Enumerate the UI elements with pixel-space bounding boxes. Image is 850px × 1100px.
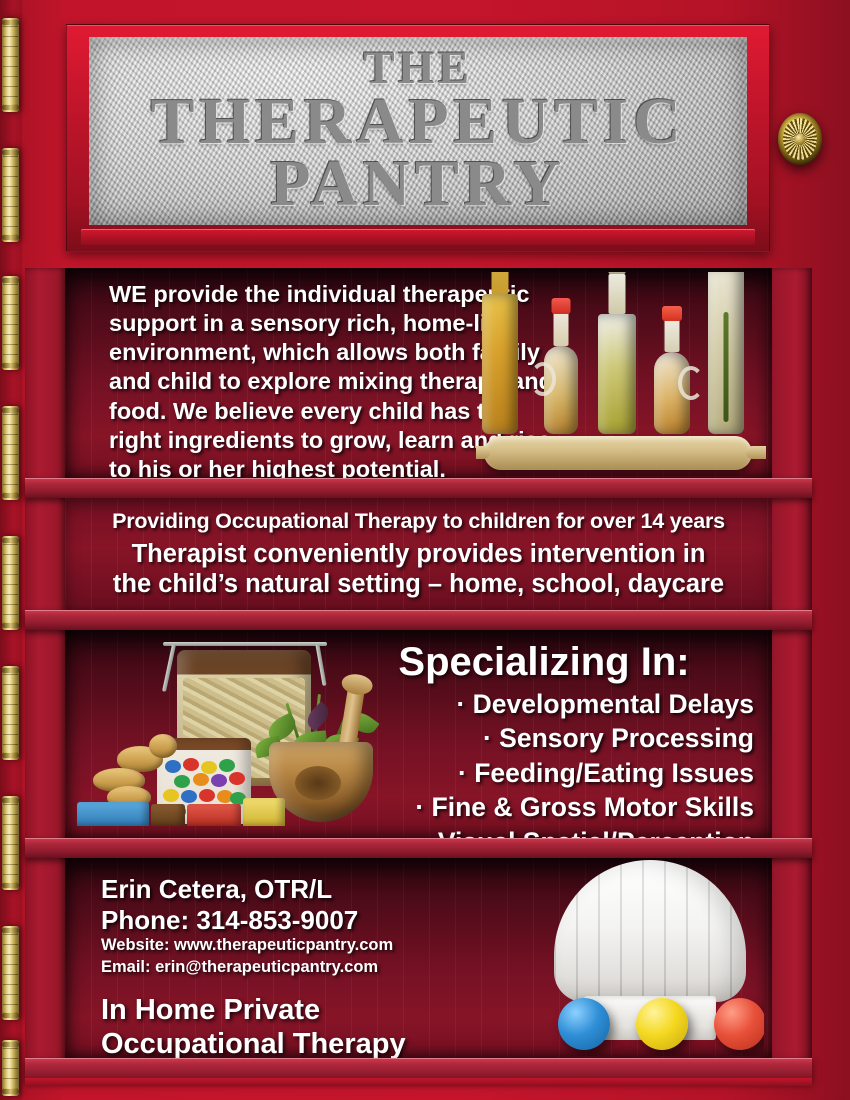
shelf-board — [25, 838, 812, 858]
oil-cruet — [544, 346, 578, 434]
oil-bottle — [482, 294, 518, 434]
cabinet-hinge-icon — [2, 926, 19, 1020]
specializing-heading: Specializing In: — [334, 640, 754, 685]
cabinet-hinge-icon — [2, 796, 19, 890]
knob-hub — [795, 134, 805, 145]
specializing-section: Specializing In: · Developmental Delays … — [334, 640, 754, 838]
herb-infused-bottle — [708, 272, 744, 434]
shelf-board — [25, 478, 812, 498]
panel-banner: Providing Occupational Therapy to childr… — [65, 498, 772, 610]
therapy-ball-yellow — [636, 998, 688, 1050]
oil-cruet — [654, 352, 690, 434]
therapy-ball-red — [714, 998, 764, 1050]
chef-hat-photo — [540, 860, 764, 1056]
banner-line-2a: Therapist conveniently provides interven… — [113, 540, 724, 569]
cabinet-post-right — [772, 268, 812, 1082]
cabinet-post-left — [25, 268, 65, 1082]
specializing-item: · Sensory Processing — [334, 721, 754, 755]
cabinet-hinge-icon — [2, 1040, 19, 1096]
shelf-board — [25, 610, 812, 630]
specializing-item: · Feeding/Eating Issues — [334, 756, 754, 790]
flyer-page: THE THERAPEUTIC PANTRY WE provide the in… — [0, 0, 850, 1100]
contact-phone[interactable]: Phone: 314-853-9007 — [101, 905, 521, 936]
rolling-pin-icon — [484, 436, 752, 470]
therapy-ball-blue — [558, 998, 610, 1050]
panel-specializing: Specializing In: · Developmental Delays … — [65, 630, 772, 838]
cookie-icon — [149, 734, 177, 758]
header-plaque: THE THERAPEUTIC PANTRY — [89, 37, 747, 225]
specializing-list: · Developmental Delays · Sensory Process… — [334, 687, 754, 838]
toy-block — [187, 804, 241, 826]
plaque-base — [81, 229, 755, 245]
cabinet-hinge-icon — [2, 148, 19, 242]
toy-block — [243, 798, 285, 826]
cabinet-hinge-icon — [2, 406, 19, 500]
door-knob-icon — [778, 113, 822, 165]
specializing-item: · Developmental Delays — [334, 687, 754, 721]
plaque-line-1: THE — [363, 46, 472, 91]
tagline-line-1: In Home Private — [101, 993, 521, 1027]
cabinet-hinge-icon — [2, 18, 19, 112]
oil-bottle — [598, 314, 636, 434]
chef-hat-icon — [554, 860, 746, 1002]
plaque-line-2: THERAPEUTIC — [151, 91, 686, 154]
toy-block — [151, 804, 185, 826]
banner-line-1: Providing Occupational Therapy to childr… — [112, 509, 725, 534]
banner-line-2b: the child’s natural setting – home, scho… — [113, 570, 724, 599]
specializing-item: · Fine & Gross Motor Skills — [334, 790, 754, 824]
contact-block: Erin Cetera, OTR/L Phone: 314-853-9007 W… — [101, 874, 521, 1058]
bottom-rail — [25, 1078, 812, 1086]
contact-email[interactable]: Email: erin@therapeuticpantry.com — [101, 957, 521, 979]
cabinet-hinge-icon — [2, 276, 19, 370]
banner-text: Providing Occupational Therapy to childr… — [65, 498, 772, 610]
cabinet: WE provide the individual therapeutic su… — [25, 268, 812, 1078]
hinge-rail — [0, 0, 22, 1100]
toy-block — [77, 802, 149, 826]
cabinet-hinge-icon — [2, 666, 19, 760]
contact-website[interactable]: Website: www.therapeuticpantry.com — [101, 935, 521, 957]
tagline-line-2: Occupational Therapy — [101, 1027, 521, 1058]
cabinet-hinge-icon — [2, 536, 19, 630]
specializing-item: · Visual Spatial/Perception — [334, 825, 754, 838]
header-plaque-frame: THE THERAPEUTIC PANTRY — [66, 24, 770, 252]
oil-bottles-photo — [476, 272, 766, 476]
contact-name: Erin Cetera, OTR/L — [101, 874, 521, 905]
jar-clamp-icon — [163, 642, 327, 646]
panel-intro: WE provide the individual therapeutic su… — [65, 268, 772, 478]
plaque-line-3: PANTRY — [270, 153, 566, 216]
panel-contact: Erin Cetera, OTR/L Phone: 314-853-9007 W… — [65, 858, 772, 1058]
